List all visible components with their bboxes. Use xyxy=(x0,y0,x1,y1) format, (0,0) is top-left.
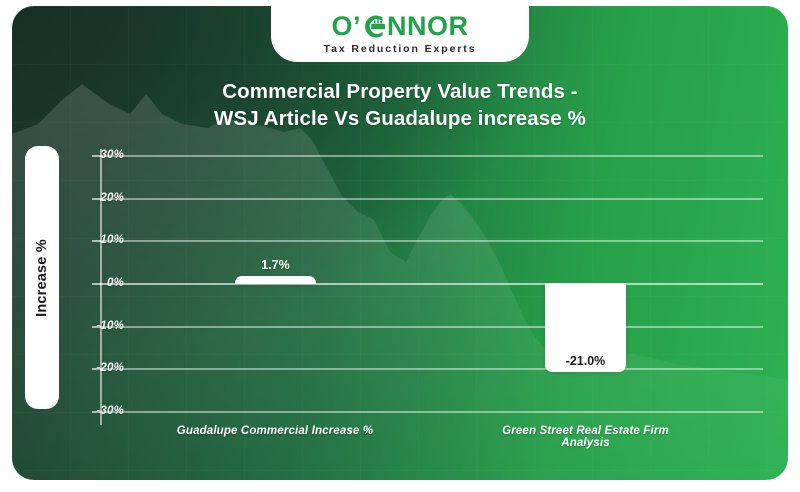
screenshot-canvas: O ’ NNOR Tax Reduction Experts Commercia… xyxy=(0,0,800,492)
logo-text-nnor: NNOR xyxy=(387,13,469,40)
y-tick-label-20: 20% xyxy=(72,192,124,204)
logo-wordmark: O ’ NNOR xyxy=(331,13,468,40)
gridline-30 xyxy=(100,155,763,157)
building-bars-icon xyxy=(361,13,387,40)
logo-text-o: O xyxy=(331,13,353,40)
y-tick-label-30: 30% xyxy=(72,149,124,161)
logo-tagline: Tax Reduction Experts xyxy=(324,43,477,55)
gridline-10 xyxy=(100,240,763,242)
y-tick-label-n20: -20% xyxy=(72,362,124,374)
bar-value-label-2: -21.0% xyxy=(545,354,626,368)
chart-card: O ’ NNOR Tax Reduction Experts Commercia… xyxy=(12,6,788,480)
logo-apostrophe: ’ xyxy=(353,13,361,40)
gridline-20 xyxy=(100,198,763,200)
gridline-n20 xyxy=(100,368,763,370)
y-tick-label-0: 0% xyxy=(72,277,124,289)
gridline-n10 xyxy=(100,326,763,328)
gridline-n30 xyxy=(100,411,763,413)
y-tick-label-n10: -10% xyxy=(72,320,124,332)
y-axis-label: Increase % xyxy=(34,239,50,317)
title-line-2: WSJ Article Vs Guadalupe increase % xyxy=(12,105,788,132)
y-tick-label-10: 10% xyxy=(72,234,124,246)
gridline-0 xyxy=(100,283,763,285)
page-title: Commercial Property Value Trends - WSJ A… xyxy=(12,78,788,133)
y-axis-label-box: Increase % xyxy=(25,146,59,409)
bar-value-label-1: 1.7% xyxy=(235,258,316,272)
logo-banner: O ’ NNOR Tax Reduction Experts xyxy=(271,6,529,62)
x-axis-label-1: Guadalupe Commercial Increase % xyxy=(175,425,375,437)
x-axis-label-2: Green Street Real Estate Firm Analysis xyxy=(478,425,693,449)
bar-guadalupe-commercial-increase[interactable] xyxy=(235,276,316,284)
y-tick-label-n30: -30% xyxy=(72,405,124,417)
title-line-1: Commercial Property Value Trends - xyxy=(12,78,788,105)
